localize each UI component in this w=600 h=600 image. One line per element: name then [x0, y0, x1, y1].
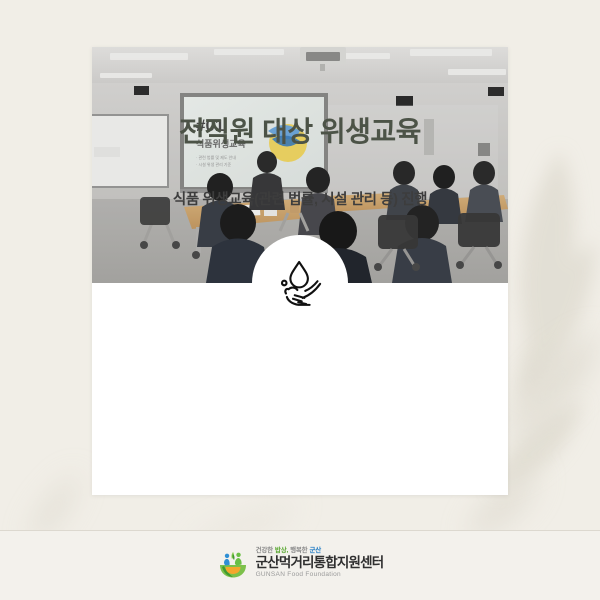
organization-name-ko: 군산먹거리통합지원센터 — [256, 556, 384, 570]
logo-tagline-word-2: 밥상, — [275, 547, 288, 555]
logo-text-block: 건강한 밥상, 행복한 군산 군산먹거리통합지원센터 GUNSAN Food F… — [256, 547, 384, 579]
logo-tagline-word-1: 건강한 — [256, 547, 273, 555]
organization-name-en: GUNSAN Food Foundation — [256, 571, 384, 579]
logo-tagline: 건강한 밥상, 행복한 군산 — [256, 547, 384, 555]
footer-logo: 건강한 밥상, 행복한 군산 군산먹거리통합지원센터 GUNSAN Food F… — [0, 543, 600, 583]
logo-tagline-word-4: 군산 — [309, 547, 321, 555]
page-title: 전직원 대상 위생교육 — [92, 110, 508, 150]
logo-tagline-word-3: 행복한 — [290, 547, 307, 555]
hand-washing-icon — [252, 235, 348, 331]
page-subtitle: 식품 위생교육(관련 법률, 시설 관리 등) 진행 — [92, 188, 508, 209]
content-card: #01 식품위생교육 · 관련 법률 및 제도 안내 · 시설 위생 관리 기준 — [92, 47, 508, 495]
gunsan-food-foundation-emblem — [217, 547, 249, 579]
